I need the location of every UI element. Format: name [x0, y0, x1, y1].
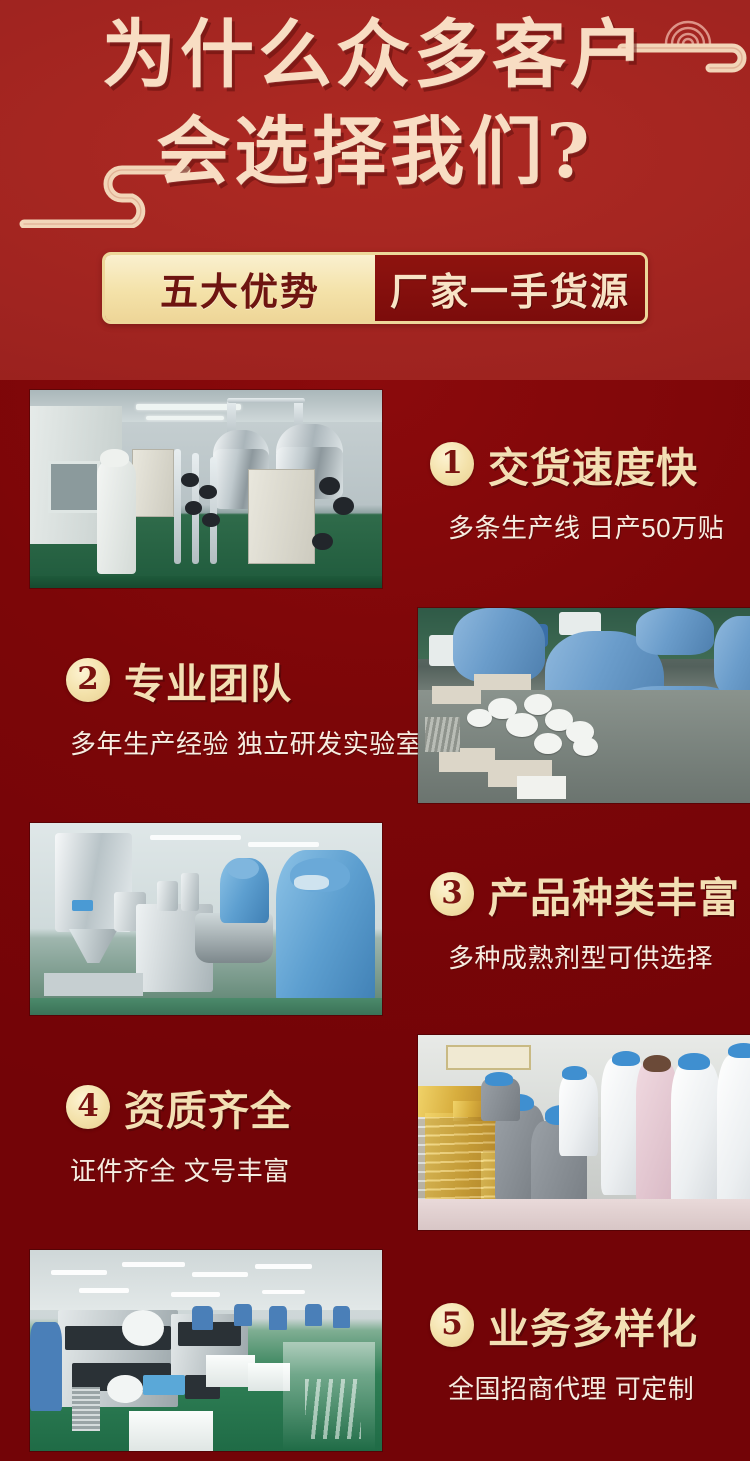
advantage-photo — [30, 1250, 382, 1451]
badge-right-half: 厂家一手货源 — [375, 255, 645, 321]
advantage-photo — [418, 608, 750, 803]
advantage-text: 4 资质齐全 证件齐全 文号丰富 — [30, 1025, 382, 1240]
advantage-title: 产品种类丰富 — [488, 864, 740, 924]
badge-right-label: 厂家一手货源 — [390, 261, 630, 316]
advantage-number-badge: 4 — [66, 1085, 110, 1129]
advantage-row: 4 资质齐全 证件齐全 文号丰富 — [0, 1025, 750, 1240]
advantage-photo — [30, 823, 382, 1015]
title-line-1: 为什么众多客户 — [0, 18, 750, 93]
badge-left-half: 五大优势 — [105, 255, 375, 321]
advantage-row: 3 产品种类丰富 多种成熟剂型可供选择 — [0, 813, 750, 1025]
advantage-subtitle: 多种成熟剂型可供选择 — [430, 938, 750, 975]
advantage-photo — [30, 390, 382, 588]
advantage-text: 1 交货速度快 多条生产线 日产50万贴 — [418, 380, 750, 598]
advantage-number-badge: 1 — [430, 442, 474, 486]
advantage-title: 交货速度快 — [488, 434, 698, 494]
photo-scene-patch-assembly — [418, 608, 750, 803]
advantage-badge: 五大优势 厂家一手货源 — [102, 252, 648, 324]
advantage-title: 专业团队 — [124, 650, 292, 710]
advantage-number-badge: 3 — [430, 872, 474, 916]
advantage-text: 5 业务多样化 全国招商代理 可定制 — [418, 1240, 750, 1461]
photo-scene-cleanroom-extraction — [30, 390, 382, 588]
advantage-row: 2 专业团队 多年生产经验 独立研发实验室 — [0, 598, 750, 813]
photo-scene-packing-line — [418, 1035, 750, 1230]
advantage-subtitle: 多年生产经验 独立研发实验室 — [66, 724, 382, 761]
advantage-title: 业务多样化 — [488, 1295, 698, 1355]
promo-poster: 为什么众多客户 会选择我们? 五大优势 厂家一手货源 — [0, 0, 750, 1461]
advantage-subtitle: 证件齐全 文号丰富 — [66, 1151, 382, 1188]
poster-header: 为什么众多客户 会选择我们? 五大优势 厂家一手货源 — [0, 0, 750, 380]
advantage-subtitle: 全国招商代理 可定制 — [430, 1369, 750, 1406]
advantage-number-badge: 2 — [66, 658, 110, 702]
advantage-subtitle: 多条生产线 日产50万贴 — [430, 508, 750, 545]
advantage-number-badge: 5 — [430, 1303, 474, 1347]
title-line-2: 会选择我们? — [0, 115, 750, 190]
photo-scene-filling-machine — [30, 823, 382, 1015]
badge-left-label: 五大优势 — [160, 261, 320, 316]
advantage-text: 3 产品种类丰富 多种成熟剂型可供选择 — [418, 813, 750, 1025]
photo-scene-workshop-overview — [30, 1250, 382, 1451]
advantage-row: 1 交货速度快 多条生产线 日产50万贴 — [0, 380, 750, 598]
advantage-grid: 1 交货速度快 多条生产线 日产50万贴 2 专业团队 多年生产经验 独立研发实… — [0, 380, 750, 1461]
advantage-text: 2 专业团队 多年生产经验 独立研发实验室 — [30, 598, 382, 813]
advantage-photo — [418, 1035, 750, 1230]
advantage-row: 5 业务多样化 全国招商代理 可定制 — [0, 1240, 750, 1461]
advantage-title: 资质齐全 — [124, 1077, 292, 1137]
poster-title: 为什么众多客户 会选择我们? — [0, 18, 750, 191]
